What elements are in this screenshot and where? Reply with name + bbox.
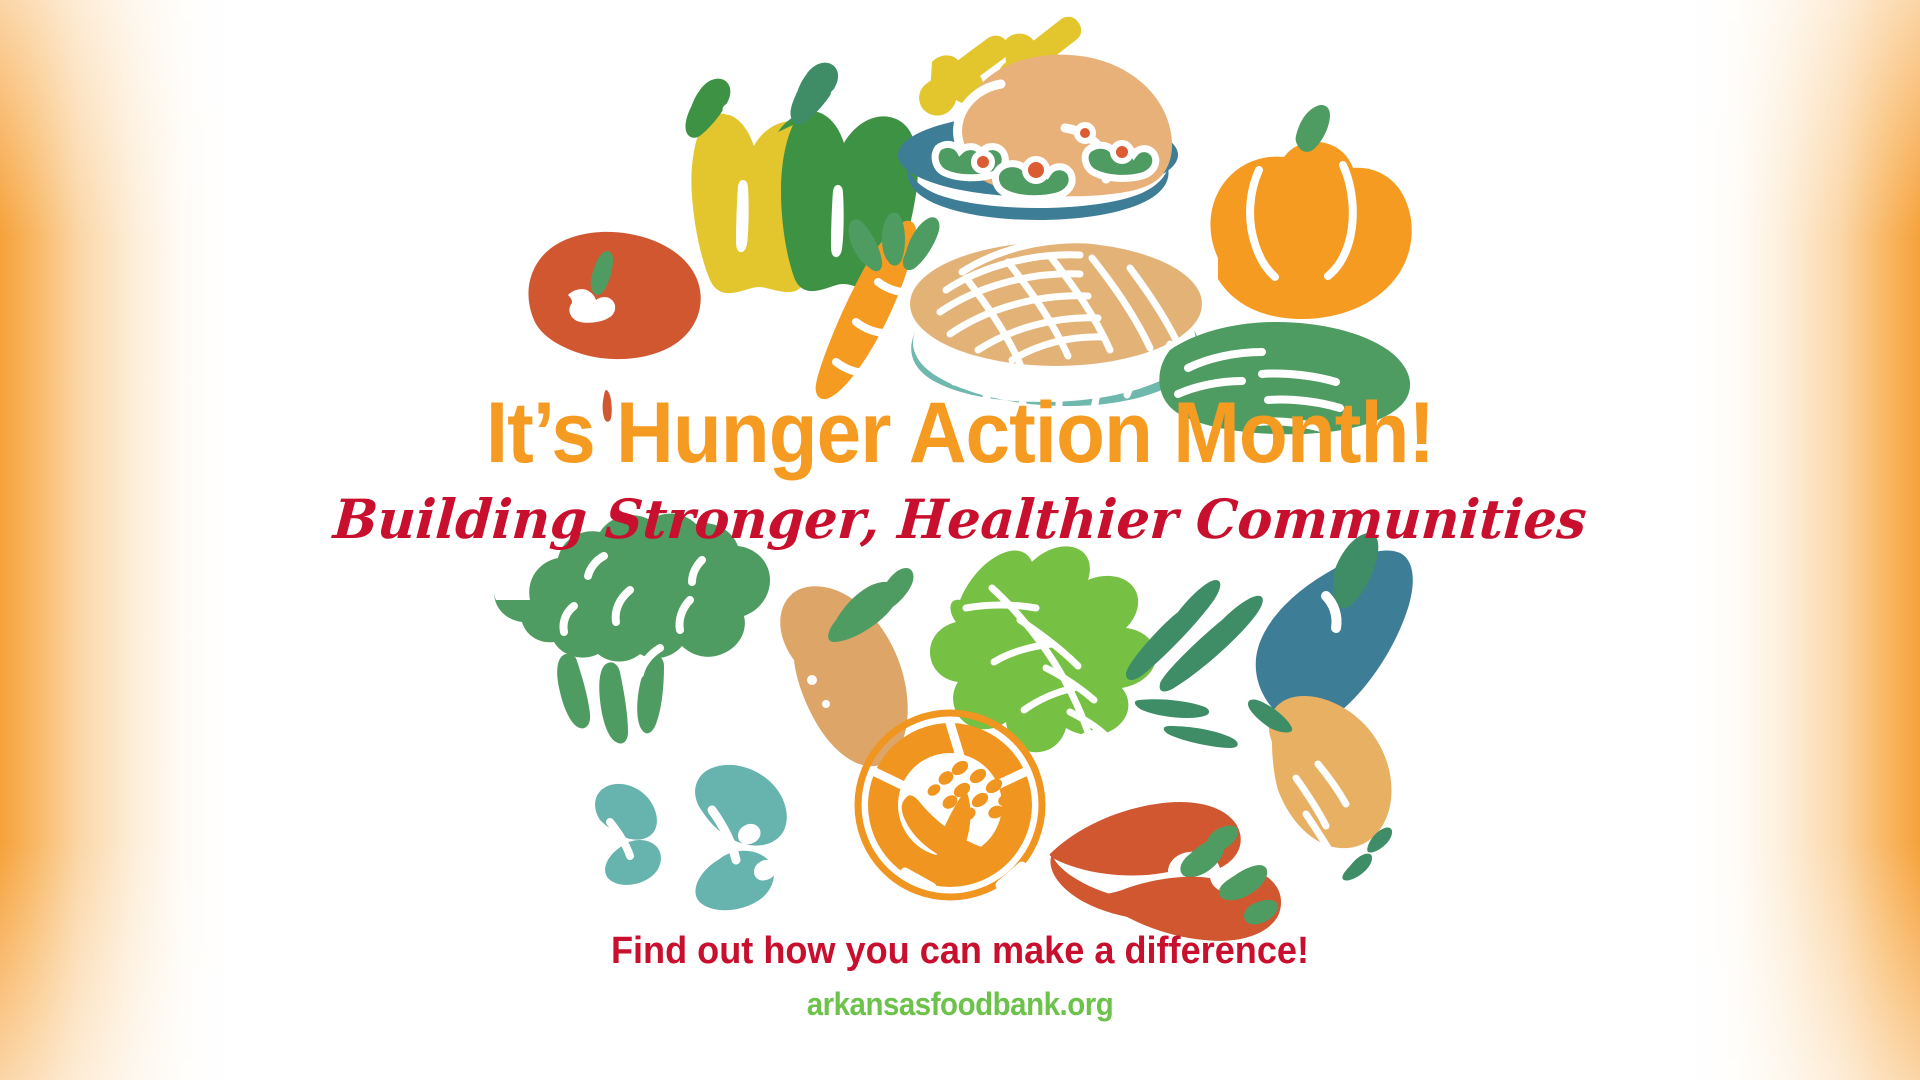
roast-turkey-illustration [898, 17, 1178, 220]
onion-illustration [1248, 696, 1392, 880]
scallions-illustration [1126, 580, 1263, 748]
tagline: Building Stronger, Healthier Communities [27, 492, 1893, 546]
hunger-action-month-poster: It’s Hunger Action Month! Building Stron… [0, 0, 1920, 1080]
mushrooms-illustration [595, 765, 787, 910]
arkansas-foodbank-logo [858, 713, 1042, 897]
website-url[interactable]: arkansasfoodbank.org [77, 986, 1843, 1023]
chili-peppers-illustration [1050, 802, 1281, 941]
leafy-lettuce-illustration [930, 546, 1156, 752]
pumpkin-illustration [1210, 105, 1411, 319]
headline: It’s Hunger Action Month! [67, 390, 1853, 476]
call-to-action-text: Find out how you can make a difference! [48, 930, 1872, 973]
eggplant-illustration [1256, 533, 1413, 726]
